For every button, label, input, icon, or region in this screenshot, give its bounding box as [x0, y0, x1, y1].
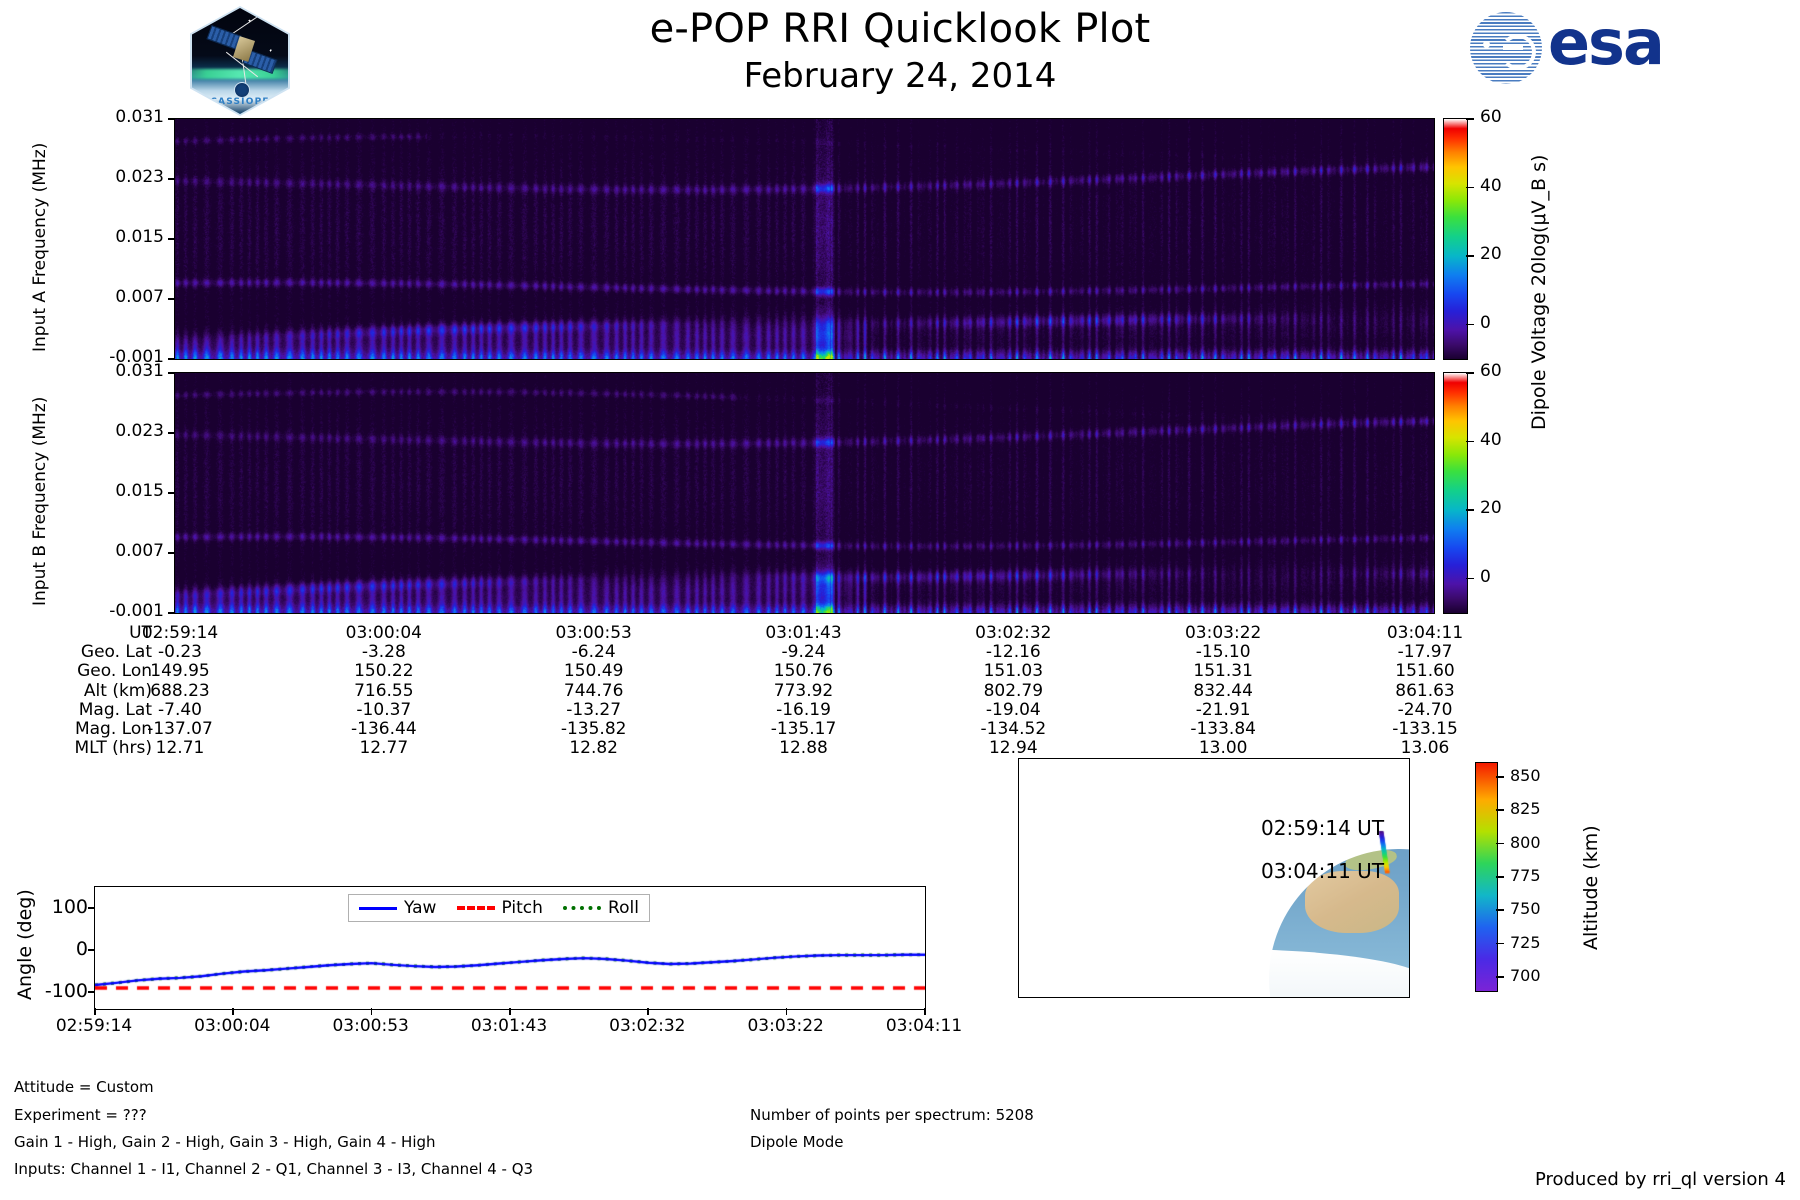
altitude-tick-mark: [1496, 876, 1504, 878]
ephemeris-value: -135.17: [719, 720, 889, 739]
colorbar-tick-mark: [1466, 372, 1474, 374]
ephemeris-value: 688.23: [95, 682, 265, 701]
input-a-y-axis-label: Input A Frequency (MHz): [30, 143, 50, 352]
ephemeris-value: 03:00:04: [299, 624, 469, 643]
altitude-tick-mark: [1496, 943, 1504, 945]
altitude-tick-mark: [1496, 976, 1504, 978]
yaw-line-swatch: [359, 907, 397, 910]
ground-track-map[interactable]: 02:59:14 UT 03:04:11 UT: [1018, 758, 1410, 998]
y-tick-mark: [168, 298, 175, 300]
colorbar-tick-label: 0: [1480, 313, 1491, 333]
ephemeris-value: -7.40: [95, 701, 265, 720]
y-tick-label: 0.015: [60, 227, 164, 247]
esa-logo: esa: [1470, 8, 1710, 88]
ephemeris-value: -133.15: [1340, 720, 1510, 739]
y-tick-label: 0.023: [60, 167, 164, 187]
altitude-tick-label: 750: [1510, 899, 1541, 918]
ephemeris-value: 773.92: [719, 682, 889, 701]
ephemeris-value: -10.37: [299, 701, 469, 720]
footer-experiment: Experiment = ???: [14, 1107, 147, 1124]
attitude-y-tick-label: 100: [20, 896, 88, 918]
attitude-y-tick-label: -100: [20, 980, 88, 1002]
ephemeris-value: 12.82: [509, 739, 679, 758]
ephemeris-value: -15.10: [1138, 643, 1308, 662]
altitude-tick-label: 825: [1510, 799, 1541, 818]
altitude-tick-label: 850: [1510, 766, 1541, 785]
legend-item-pitch: Pitch: [457, 898, 543, 918]
ephemeris-value: -17.97: [1340, 643, 1510, 662]
ephemeris-value: 149.95: [95, 662, 265, 681]
attitude-x-tick-mark: [786, 1008, 788, 1015]
cassiope-wordmark: CASSIOPE: [192, 97, 288, 107]
altitude-tick-mark: [1496, 909, 1504, 911]
y-tick-mark: [168, 178, 175, 180]
ephemeris-value: 13.06: [1340, 739, 1510, 758]
legend-item-roll: Roll: [563, 898, 639, 918]
ephemeris-value: -6.24: [509, 643, 679, 662]
y-tick-label: 0.015: [60, 481, 164, 501]
y-tick-mark: [168, 612, 175, 614]
attitude-x-tick-mark: [924, 1008, 926, 1015]
ephemeris-value: 150.22: [299, 662, 469, 681]
ephemeris-value: -137.07: [95, 720, 265, 739]
ephemeris-row: UT02:59:1403:00:0403:00:5303:01:4303:02:…: [0, 624, 1460, 643]
ephemeris-value: 03:01:43: [719, 624, 889, 643]
ephemeris-value: 03:02:32: [928, 624, 1098, 643]
attitude-x-tick-mark: [94, 1008, 96, 1015]
ephemeris-value: 03:04:11: [1340, 624, 1510, 643]
ephemeris-value: -135.82: [509, 720, 679, 739]
colorbar-tick-label: 0: [1480, 567, 1491, 587]
y-tick-label: -0.001: [60, 601, 164, 621]
attitude-x-tick-label: 03:01:43: [449, 1016, 569, 1036]
attitude-x-tick-mark: [371, 1008, 373, 1015]
footer-dipole-mode: Dipole Mode: [750, 1134, 843, 1151]
ephemeris-value: 716.55: [299, 682, 469, 701]
footer-attitude: Attitude = Custom: [14, 1079, 154, 1096]
colorbar-tick-label: 60: [1480, 107, 1502, 127]
ephemeris-value: 832.44: [1138, 682, 1308, 701]
ephemeris-value: -12.16: [928, 643, 1098, 662]
y-tick-mark: [168, 372, 175, 374]
roll-line-swatch: [563, 906, 601, 910]
colorbar-tick-mark: [1466, 578, 1474, 580]
esa-wordmark: esa: [1548, 12, 1663, 74]
ephemeris-value: -136.44: [299, 720, 469, 739]
attitude-x-tick-mark: [232, 1008, 234, 1015]
ephemeris-value: -134.52: [928, 720, 1098, 739]
legend-label-pitch: Pitch: [502, 898, 543, 918]
attitude-x-tick-label: 03:04:11: [864, 1016, 984, 1036]
attitude-x-tick-mark: [509, 1008, 511, 1015]
colorbar-tick-label: 60: [1480, 361, 1502, 381]
ephemeris-value: 12.88: [719, 739, 889, 758]
ephemeris-value: 12.77: [299, 739, 469, 758]
attitude-y-tick-mark: [88, 991, 95, 993]
y-tick-label: 0.031: [60, 107, 164, 127]
attitude-x-tick-label: 03:00:04: [172, 1016, 292, 1036]
footer-produced-by: Produced by rri_ql version 4: [1535, 1169, 1786, 1190]
colorbar-tick-label: 40: [1480, 176, 1502, 196]
ephemeris-row: MLT (hrs)12.7112.7712.8212.8812.9413.001…: [0, 739, 1460, 758]
ephemeris-value: 03:03:22: [1138, 624, 1308, 643]
colorbar-tick-mark: [1466, 324, 1474, 326]
ephemeris-value: 151.31: [1138, 662, 1308, 681]
y-tick-label: 0.023: [60, 421, 164, 441]
altitude-label-text: Altitude (km): [1580, 825, 1602, 950]
attitude-y-tick-mark: [88, 907, 95, 909]
colorbar-tick-label: 20: [1480, 244, 1502, 264]
altitude-tick-mark: [1496, 843, 1504, 845]
ephemeris-value: -19.04: [928, 701, 1098, 720]
map-end-time-label: 03:04:11 UT: [1261, 859, 1384, 883]
legend-label-yaw: Yaw: [404, 898, 436, 918]
ephemeris-row: Geo. Lon149.95150.22150.49150.76151.0315…: [0, 662, 1460, 681]
altitude-tick-label: 775: [1510, 866, 1541, 885]
pitch-line-swatch: [457, 906, 495, 910]
attitude-x-tick-mark: [647, 1008, 649, 1015]
ephemeris-value: 02:59:14: [95, 624, 265, 643]
attitude-x-tick-label: 03:03:22: [726, 1016, 846, 1036]
input-b-colorbar[interactable]: [1443, 372, 1468, 614]
ephemeris-value: 802.79: [928, 682, 1098, 701]
y-tick-mark: [168, 432, 175, 434]
input-a-spectrogram[interactable]: [174, 118, 1435, 360]
y-tick-label: 0.031: [60, 361, 164, 381]
ephemeris-value: -9.24: [719, 643, 889, 662]
ephemeris-value: 03:00:53: [509, 624, 679, 643]
ephemeris-value: 150.76: [719, 662, 889, 681]
legend-label-roll: Roll: [608, 898, 639, 918]
footer-gains: Gain 1 - High, Gain 2 - High, Gain 3 - H…: [14, 1134, 436, 1151]
dipole-voltage-colorbar-label: Dipole Voltage 20log(μV_B s): [1528, 155, 1550, 430]
input-b-y-axis-label: Input B Frequency (MHz): [30, 397, 50, 606]
altitude-colorbar-label: Altitude (km): [1580, 825, 1602, 950]
ephemeris-row: Alt (km)688.23716.55744.76773.92802.7983…: [0, 682, 1460, 701]
altitude-tick-label: 725: [1510, 933, 1541, 952]
ephemeris-value: 13.00: [1138, 739, 1308, 758]
altitude-tick-label: 800: [1510, 833, 1541, 852]
ephemeris-value: -13.27: [509, 701, 679, 720]
ephemeris-value: 744.76: [509, 682, 679, 701]
colorbar-label-text: Dipole Voltage 20log(μV_B s): [1528, 155, 1550, 430]
y-tick-mark: [168, 492, 175, 494]
ephemeris-row: Mag. Lon-137.07-136.44-135.82-135.17-134…: [0, 720, 1460, 739]
attitude-legend: Yaw Pitch Roll: [348, 894, 650, 922]
attitude-x-tick-label: 03:02:32: [587, 1016, 707, 1036]
footer-inputs: Inputs: Channel 1 - I1, Channel 2 - Q1, …: [14, 1161, 533, 1178]
input-b-spectrogram[interactable]: [174, 372, 1435, 614]
y-tick-mark: [168, 552, 175, 554]
map-start-time-label: 02:59:14 UT: [1261, 816, 1384, 840]
attitude-y-tick-mark: [88, 949, 95, 951]
ephemeris-value: -24.70: [1340, 701, 1510, 720]
y-tick-mark: [168, 118, 175, 120]
y-tick-mark: [168, 358, 175, 360]
footer-points-per-spectrum: Number of points per spectrum: 5208: [750, 1107, 1034, 1124]
ephemeris-value: 150.49: [509, 662, 679, 681]
altitude-tick-label: 700: [1510, 966, 1541, 985]
altitude-colorbar[interactable]: [1475, 762, 1498, 992]
ephemeris-value: 151.03: [928, 662, 1098, 681]
colorbar-tick-mark: [1466, 255, 1474, 257]
attitude-x-tick-label: 02:59:14: [34, 1016, 154, 1036]
y-tick-mark: [168, 238, 175, 240]
ephemeris-value: -21.91: [1138, 701, 1308, 720]
ephemeris-value: 12.94: [928, 739, 1098, 758]
colorbar-tick-label: 20: [1480, 498, 1502, 518]
attitude-y-tick-label: 0: [20, 938, 88, 960]
attitude-x-tick-label: 03:00:53: [311, 1016, 431, 1036]
ephemeris-row: Geo. Lat-0.23-3.28-6.24-9.24-12.16-15.10…: [0, 643, 1460, 662]
ephemeris-value: 12.71: [95, 739, 265, 758]
altitude-tick-mark: [1496, 776, 1504, 778]
colorbar-tick-mark: [1466, 441, 1474, 443]
y-tick-label: 0.007: [60, 287, 164, 307]
ephemeris-value: 151.60: [1340, 662, 1510, 681]
ephemeris-table: UT02:59:1403:00:0403:00:5303:01:4303:02:…: [0, 624, 1460, 758]
colorbar-tick-mark: [1466, 118, 1474, 120]
input-a-colorbar[interactable]: [1443, 118, 1468, 360]
colorbar-tick-label: 40: [1480, 430, 1502, 450]
ephemeris-value: 861.63: [1340, 682, 1510, 701]
ephemeris-value: -16.19: [719, 701, 889, 720]
colorbar-tick-mark: [1466, 509, 1474, 511]
ephemeris-row: Mag. Lat-7.40-10.37-13.27-16.19-19.04-21…: [0, 701, 1460, 720]
ephemeris-value: -3.28: [299, 643, 469, 662]
altitude-tick-mark: [1496, 809, 1504, 811]
ephemeris-value: -0.23: [95, 643, 265, 662]
y-tick-label: 0.007: [60, 541, 164, 561]
colorbar-tick-mark: [1466, 187, 1474, 189]
cassiope-logo: CASSIOPE: [190, 6, 290, 116]
legend-item-yaw: Yaw: [359, 898, 436, 918]
ephemeris-value: -133.84: [1138, 720, 1308, 739]
